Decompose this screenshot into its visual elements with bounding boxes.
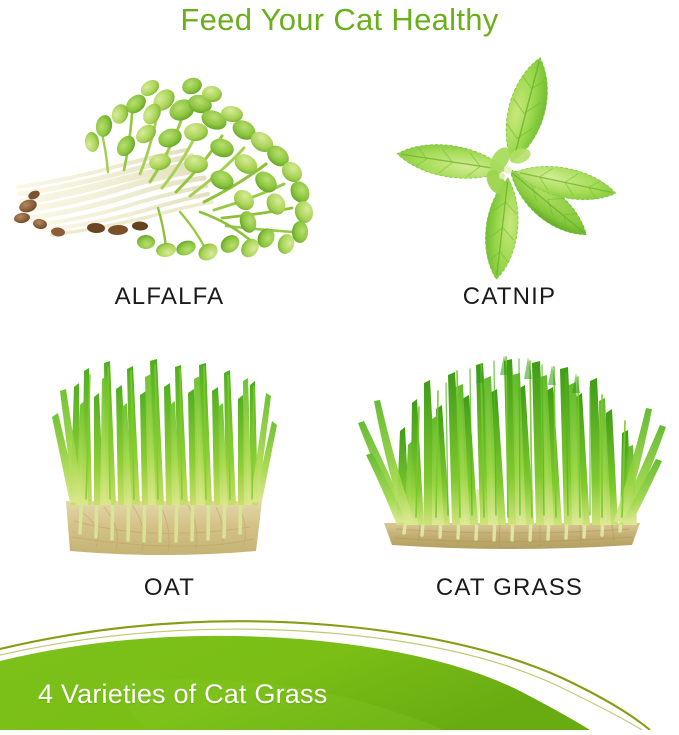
product-label-cat-grass: CAT GRASS xyxy=(340,574,679,602)
page-title: Feed Your Cat Healthy xyxy=(0,2,679,38)
product-label-catnip: CATNIP xyxy=(340,283,679,311)
product-card-alfalfa[interactable]: ALFALFA xyxy=(0,52,339,327)
catnip-leaves-icon xyxy=(340,52,679,280)
product-label-oat: OAT xyxy=(0,574,339,602)
product-card-catnip[interactable]: CATNIP xyxy=(340,52,679,327)
product-card-cat-grass[interactable]: CAT GRASS xyxy=(340,335,679,610)
bottom-banner: 4 Varieties of Cat Grass xyxy=(0,615,679,730)
product-label-alfalfa: ALFALFA xyxy=(0,283,339,311)
banner-text: 4 Varieties of Cat Grass xyxy=(38,679,327,710)
product-grid: ALFALFA xyxy=(0,52,679,622)
cat-grass-icon xyxy=(340,335,679,563)
oat-grass-icon xyxy=(0,335,339,563)
product-card-oat[interactable]: OAT xyxy=(0,335,339,610)
alfalfa-sprouts-icon xyxy=(0,52,339,280)
banner-wave-shape xyxy=(0,615,679,730)
